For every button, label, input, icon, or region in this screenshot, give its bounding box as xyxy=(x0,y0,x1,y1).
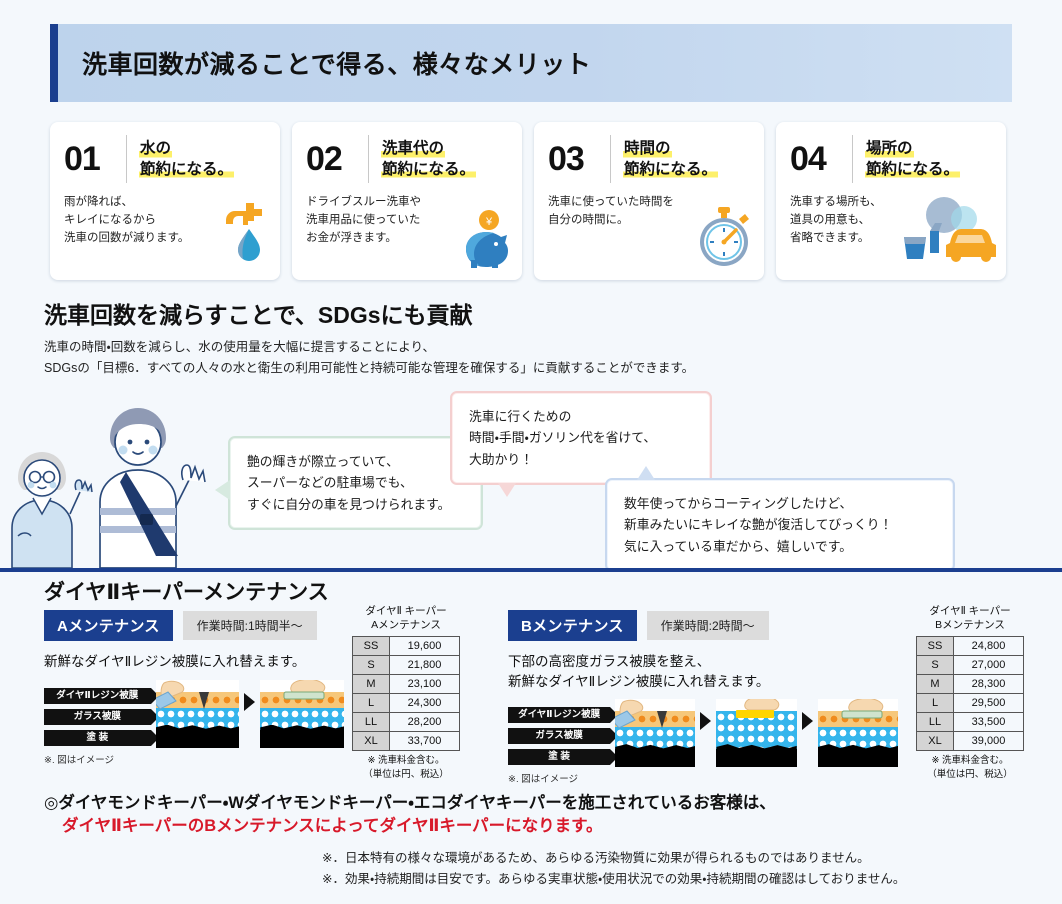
diagram-step xyxy=(615,699,695,767)
hand-applicator-icon xyxy=(834,699,890,727)
price-cell: 27,000 xyxy=(954,656,1024,675)
maintenance-a-tag: Aメンテナンス xyxy=(44,610,173,641)
price-cell: 39,000 xyxy=(954,732,1024,751)
card-body: ドライブスルー洗車や 洗車用品に使っていた お金が浮きます。 xyxy=(292,184,522,247)
table-row: M 28,300 xyxy=(917,675,1024,694)
card-body: 洗車に使っていた時間を 自分の時間に。 xyxy=(534,184,764,230)
table-row: XL 39,000 xyxy=(917,732,1024,751)
footnote-line: （単位は円、税込） xyxy=(916,768,1024,781)
scratch-mark xyxy=(657,711,667,728)
card-title-line: 節約になる。 xyxy=(865,161,960,179)
layer-label-paint: 塗 装 xyxy=(508,749,610,765)
sdgs-paragraph: 洗車の時間・回数を減らし、水の使用量を大幅に提言することにより、 SDGsの「目… xyxy=(44,337,1024,378)
footnote-line: ※ 洗車料金含む。 xyxy=(916,754,1024,767)
description-line: 新鮮なダイヤⅡレジン被膜に入れ替えます。 xyxy=(508,672,898,692)
card-header: 03 時間の 節約になる。 xyxy=(534,122,764,184)
size-cell: XL xyxy=(353,732,390,751)
size-cell: S xyxy=(917,656,954,675)
table-row: LL 28,200 xyxy=(353,713,460,732)
benefit-card-04[interactable]: 04 場所の 節約になる。 洗車する場所も、 道具の用意も、 省略できます。 xyxy=(776,122,1006,280)
sdgs-line: 洗車の時間・回数を減らし、水の使用量を大幅に提言することにより、 xyxy=(44,337,1024,358)
size-cell: M xyxy=(353,675,390,694)
card-number: 03 xyxy=(548,142,610,176)
price-table-a-footnote: ※ 洗車料金含む。 （単位は円、税込） xyxy=(352,754,460,781)
scratch-mark xyxy=(199,692,209,709)
card-header: 04 場所の 節約になる。 xyxy=(776,122,1006,184)
paint-layer xyxy=(156,730,240,748)
price-table-a-grid: SS 19,600 S 21,800 M 23,100 L 24,300 LL … xyxy=(352,636,460,751)
card-number: 01 xyxy=(64,142,126,176)
diagram-step xyxy=(818,699,898,767)
fine-print-line: ※．日本特有の様々な環境があるため、あらゆる汚染物質に効果が得られるものではあり… xyxy=(322,848,1042,869)
card-number: 02 xyxy=(306,142,368,176)
maintenance-b-tag: Bメンテナンス xyxy=(508,610,637,641)
size-cell: SS xyxy=(917,637,954,656)
testimonial-line: 数年使ってからコーティングしたけど、 xyxy=(624,493,936,514)
size-cell: L xyxy=(353,694,390,713)
paint-layer xyxy=(716,749,796,767)
maintenance-b-description: 下部の高密度ガラス被膜を整え、 新鮮なダイヤⅡレジン被膜に入れ替えます。 xyxy=(508,652,898,691)
card-title-line: 場所の xyxy=(865,140,914,158)
maintenance-a-description: 新鮮なダイヤⅡレジン被膜に入れ替えます。 xyxy=(44,652,344,672)
price-table-a: ダイヤⅡ キーパー Aメンテナンス SS 19,600 S 21,800 M 2… xyxy=(352,604,460,781)
testimonial-line: 時間・手間・ガソリン代を省けて、 xyxy=(469,427,693,448)
card-body-line: お金が浮きます。 xyxy=(306,230,522,248)
card-title-line: 時間の xyxy=(623,140,672,158)
card-divider xyxy=(852,135,853,183)
card-body-line: 洗車の回数が減ります。 xyxy=(64,230,280,248)
size-cell: L xyxy=(917,694,954,713)
size-cell: SS xyxy=(353,637,390,656)
diagram-step xyxy=(716,699,796,767)
price-cell: 21,800 xyxy=(390,656,460,675)
maintenance-b-diagram: ダイヤⅡレジン被膜 ガラス被膜 塗 装 xyxy=(508,699,898,767)
card-body-line: 自分の時間に。 xyxy=(548,212,764,230)
card-number: 04 xyxy=(790,142,852,176)
size-cell: LL xyxy=(917,713,954,732)
card-title-line: 洗車代の xyxy=(381,140,445,158)
people-illustration xyxy=(0,386,230,573)
size-cell: XL xyxy=(917,732,954,751)
notice-line-1: ◎ダイヤモンドキーパー・Wダイヤモンドキーパー・エコダイヤキーパーを施工されてい… xyxy=(44,792,1044,815)
testimonial-line: 新車みたいにキレイな艶が復活してびっくり！ xyxy=(624,514,936,535)
card-body: 洗車する場所も、 道具の用意も、 省略できます。 xyxy=(776,184,1006,247)
maintenance-b-time: 作業時間:2時間～ xyxy=(647,611,769,640)
card-body-line: 洗車する場所も、 xyxy=(790,194,1006,212)
maintenance-block-b: Bメンテナンス 作業時間:2時間～ 下部の高密度ガラス被膜を整え、 新鮮なダイヤ… xyxy=(508,610,898,785)
section-divider xyxy=(0,568,1062,572)
sdgs-heading: 洗車回数を減らすことで、SDGsにも貢献 xyxy=(44,296,1024,330)
caption-line: ダイヤⅡ キーパー xyxy=(352,604,460,618)
fine-print-line: ※．効果・持続期間は目安です。あらゆる実車状態・使用状況での効果・持続期間の確認… xyxy=(322,869,1042,890)
card-title-group: 場所の 節約になる。 xyxy=(865,140,960,179)
diagram-step xyxy=(260,680,344,748)
testimonial-bubble-pink: 洗車に行くための 時間・手間・ガソリン代を省けて、 大助かり！ xyxy=(450,391,712,485)
price-table-b: ダイヤⅡ キーパー Bメンテナンス SS 24,800 S 27,000 M 2… xyxy=(916,604,1024,781)
infographic-page: 洗車回数が減ることで得る、様々なメリット 01 水の 節約になる。 雨が降れば、… xyxy=(0,0,1062,904)
testimonial-line: 気に入っている車だから、嬉しいです。 xyxy=(624,536,936,557)
fine-print: ※．日本特有の様々な環境があるため、あらゆる汚染物質に効果が得られるものではあり… xyxy=(322,848,1042,889)
price-cell: 19,600 xyxy=(390,637,460,656)
table-row: S 21,800 xyxy=(353,656,460,675)
card-title-line: 水の xyxy=(139,140,172,158)
footnote-line: ※ 洗車料金含む。 xyxy=(352,754,460,767)
card-body-line: キレイになるから xyxy=(64,212,280,230)
hand-yellow-pad-icon xyxy=(730,699,786,727)
card-title-line: 節約になる。 xyxy=(139,161,234,179)
price-cell: 24,800 xyxy=(954,637,1024,656)
table-row: L 29,500 xyxy=(917,694,1024,713)
caption-line: Bメンテナンス xyxy=(916,618,1024,632)
table-row: SS 24,800 xyxy=(917,637,1024,656)
price-cell: 24,300 xyxy=(390,694,460,713)
testimonial-bubble-blue: 数年使ってからコーティングしたけど、 新車みたいにキレイな艶が復活してびっくり！… xyxy=(605,478,955,572)
layer-label-glass: ガラス被膜 xyxy=(508,728,610,744)
caption-line: Aメンテナンス xyxy=(352,618,460,632)
card-header: 01 水の 節約になる。 xyxy=(50,122,280,184)
testimonial-line: すぐに自分の車を見つけられます。 xyxy=(247,494,464,515)
maintenance-section-title: ダイヤⅡキーパーメンテナンス xyxy=(44,576,329,606)
step-arrow-icon xyxy=(244,693,255,711)
size-cell: M xyxy=(917,675,954,694)
sdgs-section: 洗車回数を減らすことで、SDGsにも貢献 洗車の時間・回数を減らし、水の使用量を… xyxy=(44,296,1024,378)
diagram-step xyxy=(156,680,240,748)
card-body-line: 省略できます。 xyxy=(790,230,1006,248)
benefit-card-02[interactable]: 02 洗車代の 節約になる。 ドライブスルー洗車や 洗車用品に使っていた お金が… xyxy=(292,122,522,280)
price-cell: 23,100 xyxy=(390,675,460,694)
testimonial-section: 艶の輝きが際立っていて、 スーパーなどの駐車場でも、 すぐに自分の車を見つけられ… xyxy=(0,386,1062,571)
paint-layer xyxy=(818,749,898,767)
card-body-line: 雨が降れば、 xyxy=(64,194,280,212)
size-cell: LL xyxy=(353,713,390,732)
footnote-line: （単位は円、税込） xyxy=(352,768,460,781)
price-table-a-caption: ダイヤⅡ キーパー Aメンテナンス xyxy=(352,604,460,632)
description-line: 新鮮なダイヤⅡレジン被膜に入れ替えます。 xyxy=(44,652,344,672)
table-row: SS 19,600 xyxy=(353,637,460,656)
testimonial-line: 大助かり！ xyxy=(469,449,693,470)
card-body-line: 洗車に使っていた時間を xyxy=(548,194,764,212)
table-row: XL 33,700 xyxy=(353,732,460,751)
card-divider xyxy=(610,135,611,183)
price-cell: 33,700 xyxy=(390,732,460,751)
testimonial-line: 艶の輝きが際立っていて、 xyxy=(247,451,464,472)
price-table-b-grid: SS 24,800 S 27,000 M 28,300 L 29,500 LL … xyxy=(916,636,1024,751)
benefit-card-03[interactable]: 03 時間の 節約になる。 洗車に使っていた時間を 自分の時間に。 xyxy=(534,122,764,280)
maintenance-a-diagram-note: ※. 図はイメージ xyxy=(44,752,344,766)
table-row: L 24,300 xyxy=(353,694,460,713)
notice-line-2: ダイヤⅡキーパーのBメンテナンスによってダイヤⅡキーパーになります。 xyxy=(44,815,1044,839)
table-row: S 27,000 xyxy=(917,656,1024,675)
paint-layer xyxy=(615,749,695,767)
card-header: 02 洗車代の 節約になる。 xyxy=(292,122,522,184)
card-divider xyxy=(126,135,127,183)
table-row: M 23,100 xyxy=(353,675,460,694)
hand-sponge-icon xyxy=(156,680,194,720)
maintenance-a-time: 作業時間:1時間半～ xyxy=(183,611,317,640)
size-cell: S xyxy=(353,656,390,675)
card-body-line: 道具の用意も、 xyxy=(790,212,1006,230)
layer-label-resin: ダイヤⅡレジン被膜 xyxy=(508,707,610,723)
price-cell: 28,300 xyxy=(954,675,1024,694)
layer-label-paint: 塗 装 xyxy=(44,730,151,746)
price-cell: 29,500 xyxy=(954,694,1024,713)
table-row: LL 33,500 xyxy=(917,713,1024,732)
testimonial-bubble-green: 艶の輝きが際立っていて、 スーパーなどの駐車場でも、 すぐに自分の車を見つけられ… xyxy=(228,436,483,530)
card-title-group: 水の 節約になる。 xyxy=(139,140,234,179)
layer-label-resin: ダイヤⅡレジン被膜 xyxy=(44,688,151,704)
banner-title: 洗車回数が減ることで得る、様々なメリット xyxy=(82,45,591,81)
maintenance-block-a: Aメンテナンス 作業時間:1時間半～ 新鮮なダイヤⅡレジン被膜に入れ替えます。 … xyxy=(44,610,344,766)
card-title-line: 節約になる。 xyxy=(381,161,476,179)
benefit-cards: 01 水の 節約になる。 雨が降れば、 キレイになるから 洗車の回数が減ります。 xyxy=(50,122,1012,282)
layer-label-group: ダイヤⅡレジン被膜 ガラス被膜 塗 装 xyxy=(44,688,151,746)
card-title-line: 節約になる。 xyxy=(623,161,718,179)
maintenance-a-header: Aメンテナンス 作業時間:1時間半～ xyxy=(44,610,344,641)
card-title-group: 洗車代の 節約になる。 xyxy=(381,140,476,179)
price-cell: 33,500 xyxy=(954,713,1024,732)
price-table-b-caption: ダイヤⅡ キーパー Bメンテナンス xyxy=(916,604,1024,632)
layer-label-glass: ガラス被膜 xyxy=(44,709,151,725)
benefit-card-01[interactable]: 01 水の 節約になる。 雨が降れば、 キレイになるから 洗車の回数が減ります。 xyxy=(50,122,280,280)
hand-applicator-icon xyxy=(276,680,332,708)
testimonial-line: スーパーなどの駐車場でも、 xyxy=(247,472,464,493)
bottom-notice: ◎ダイヤモンドキーパー・Wダイヤモンドキーパー・エコダイヤキーパーを施工されてい… xyxy=(44,792,1044,839)
card-title-group: 時間の 節約になる。 xyxy=(623,140,718,179)
banner-accent-bar xyxy=(50,24,58,102)
maintenance-a-diagram: ダイヤⅡレジン被膜 ガラス被膜 塗 装 xyxy=(44,680,344,748)
testimonial-line: 洗車に行くための xyxy=(469,406,693,427)
header-banner: 洗車回数が減ることで得る、様々なメリット xyxy=(50,24,1012,102)
maintenance-b-diagram-note: ※. 図はイメージ xyxy=(508,771,898,785)
step-arrow-icon xyxy=(802,712,813,730)
step-arrow-icon xyxy=(700,712,711,730)
card-body-line: 洗車用品に使っていた xyxy=(306,212,522,230)
price-table-b-footnote: ※ 洗車料金含む。 （単位は円、税込） xyxy=(916,754,1024,781)
caption-line: ダイヤⅡ キーパー xyxy=(916,604,1024,618)
description-line: 下部の高密度ガラス被膜を整え、 xyxy=(508,652,898,672)
card-body: 雨が降れば、 キレイになるから 洗車の回数が減ります。 xyxy=(50,184,280,247)
hand-sponge-icon xyxy=(615,699,653,739)
paint-layer xyxy=(260,730,344,748)
price-cell: 28,200 xyxy=(390,713,460,732)
maintenance-b-header: Bメンテナンス 作業時間:2時間～ xyxy=(508,610,898,641)
card-divider xyxy=(368,135,369,183)
layer-label-group: ダイヤⅡレジン被膜 ガラス被膜 塗 装 xyxy=(508,707,610,765)
card-body-line: ドライブスルー洗車や xyxy=(306,194,522,212)
sdgs-line: SDGsの「目標6．すべての人々の水と衛生の利用可能性と持続可能な管理を確保する… xyxy=(44,358,1024,379)
